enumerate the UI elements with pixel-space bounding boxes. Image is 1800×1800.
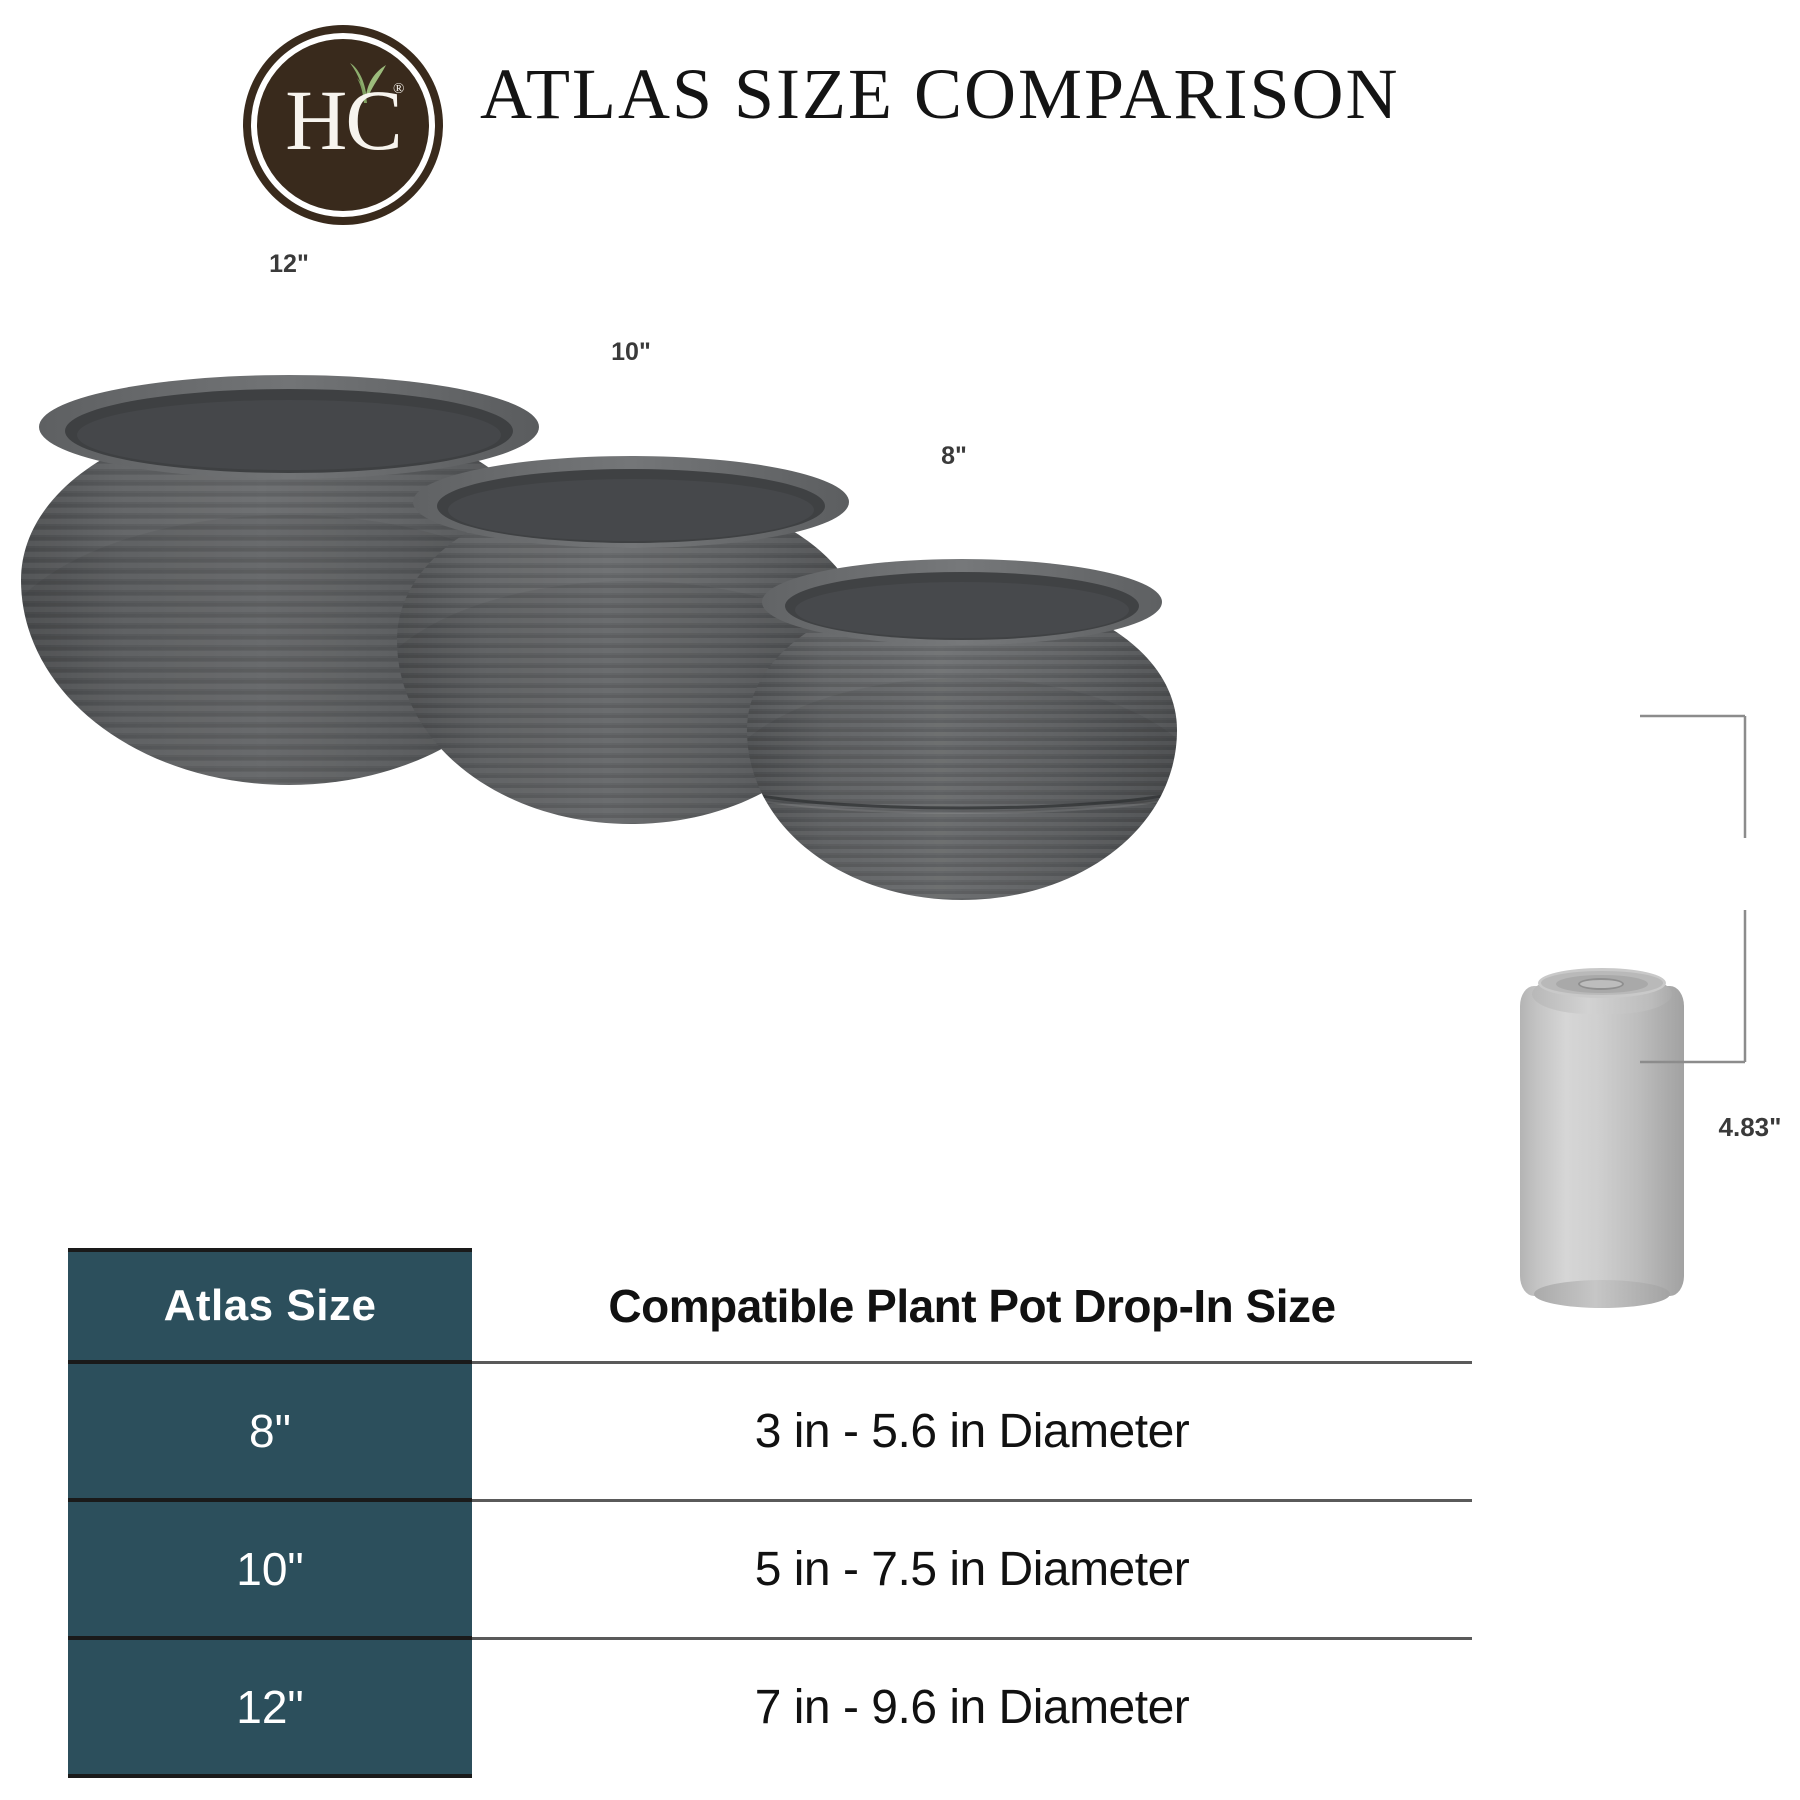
table-row: 10" 5 in - 7.5 in Diameter [68, 1500, 1472, 1638]
table-row: 12" 7 in - 9.6 in Diameter [68, 1638, 1472, 1776]
cell-compatible-size: 3 in - 5.6 in Diameter [472, 1362, 1472, 1500]
header: HC ® ATLAS SIZE COMPARISON [0, 0, 1800, 250]
product-comparison-area: 12" [0, 250, 1800, 1250]
size-comparison-infographic: HC ® ATLAS SIZE COMPARISON [0, 0, 1800, 1800]
cell-atlas-size: 12" [68, 1638, 472, 1776]
table-row: 8" 3 in - 5.6 in Diameter [68, 1362, 1472, 1500]
cell-compatible-size: 5 in - 7.5 in Diameter [472, 1500, 1472, 1638]
can-bottom [1534, 1280, 1670, 1308]
page-title: ATLAS SIZE COMPARISON [480, 56, 1400, 132]
logo-monogram: HC [243, 77, 443, 163]
table-header-row: Atlas Size Compatible Plant Pot Drop-In … [68, 1250, 1472, 1362]
can-dimension-line [0, 250, 1800, 1250]
column-header-atlas-size: Atlas Size [68, 1250, 472, 1362]
can-dimension-label: 4.83" [1702, 1112, 1798, 1143]
size-spec-table: Atlas Size Compatible Plant Pot Drop-In … [68, 1248, 1472, 1778]
cell-compatible-size: 7 in - 9.6 in Diameter [472, 1638, 1472, 1776]
registered-trademark-icon: ® [393, 81, 404, 98]
cell-atlas-size: 10" [68, 1500, 472, 1638]
column-header-compatible-size: Compatible Plant Pot Drop-In Size [472, 1250, 1472, 1362]
cell-atlas-size: 8" [68, 1362, 472, 1500]
brand-logo: HC ® [243, 25, 443, 225]
